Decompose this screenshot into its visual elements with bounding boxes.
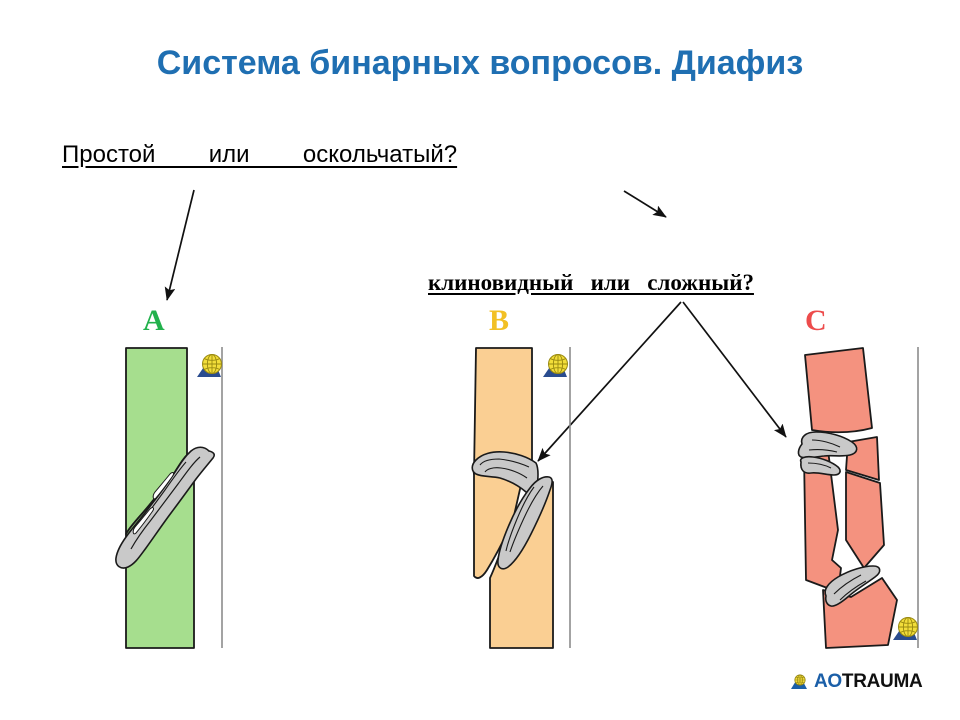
fracture-illustration-b	[472, 347, 570, 648]
page-title: Система бинарных вопросов. Диафиз	[0, 44, 960, 83]
arrow-to-a-icon	[167, 190, 194, 300]
aotrauma-wordmark: AOTRAUMA	[814, 672, 922, 691]
question-simple-or-multifragmentary: Простой или оскольчатый?	[62, 141, 457, 169]
ao-globe-badge-icon-b	[543, 355, 568, 378]
label-fracture-a: A	[143, 306, 165, 336]
ao-globe-badge-icon-a	[197, 355, 222, 378]
aotrauma-globe-icon	[789, 673, 809, 691]
question-wedge-or-complex: клиновидный или сложный?	[428, 270, 754, 296]
illustration-layer	[0, 0, 960, 720]
arrow-to-b-icon	[538, 302, 681, 461]
fracture-illustration-a	[116, 347, 222, 648]
label-fracture-c: C	[805, 306, 827, 336]
label-fracture-b: B	[489, 306, 509, 336]
fracture-illustration-c	[798, 347, 918, 648]
arrow-to-c-icon	[683, 302, 786, 437]
slide-canvas: Система бинарных вопросов. Диафиз Просто…	[0, 0, 960, 720]
aotrauma-wordmark-trauma: TRAUMA	[842, 671, 923, 692]
aotrauma-wordmark-ao: AO	[814, 671, 842, 692]
ao-globe-badge-icon-c	[893, 618, 918, 641]
arrow-to-subquestion-icon	[624, 191, 666, 217]
aotrauma-logo: AOTRAUMA	[789, 672, 922, 691]
